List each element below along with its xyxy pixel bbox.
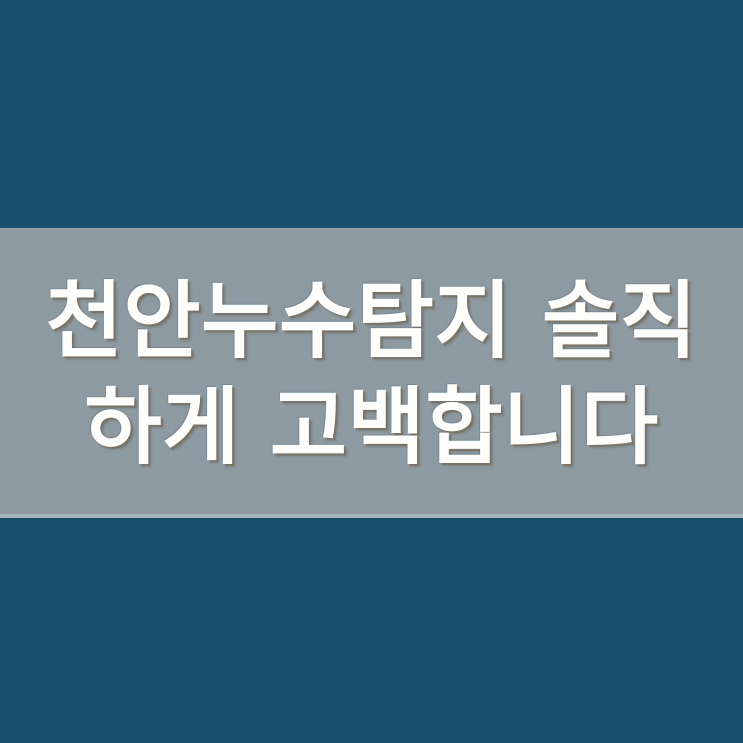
grey-banner-band xyxy=(0,229,743,518)
thumbnail-canvas: 천안누수탐지 솔직 하게 고백합니다 xyxy=(0,0,743,743)
band-bottom-edge-line xyxy=(0,514,743,518)
